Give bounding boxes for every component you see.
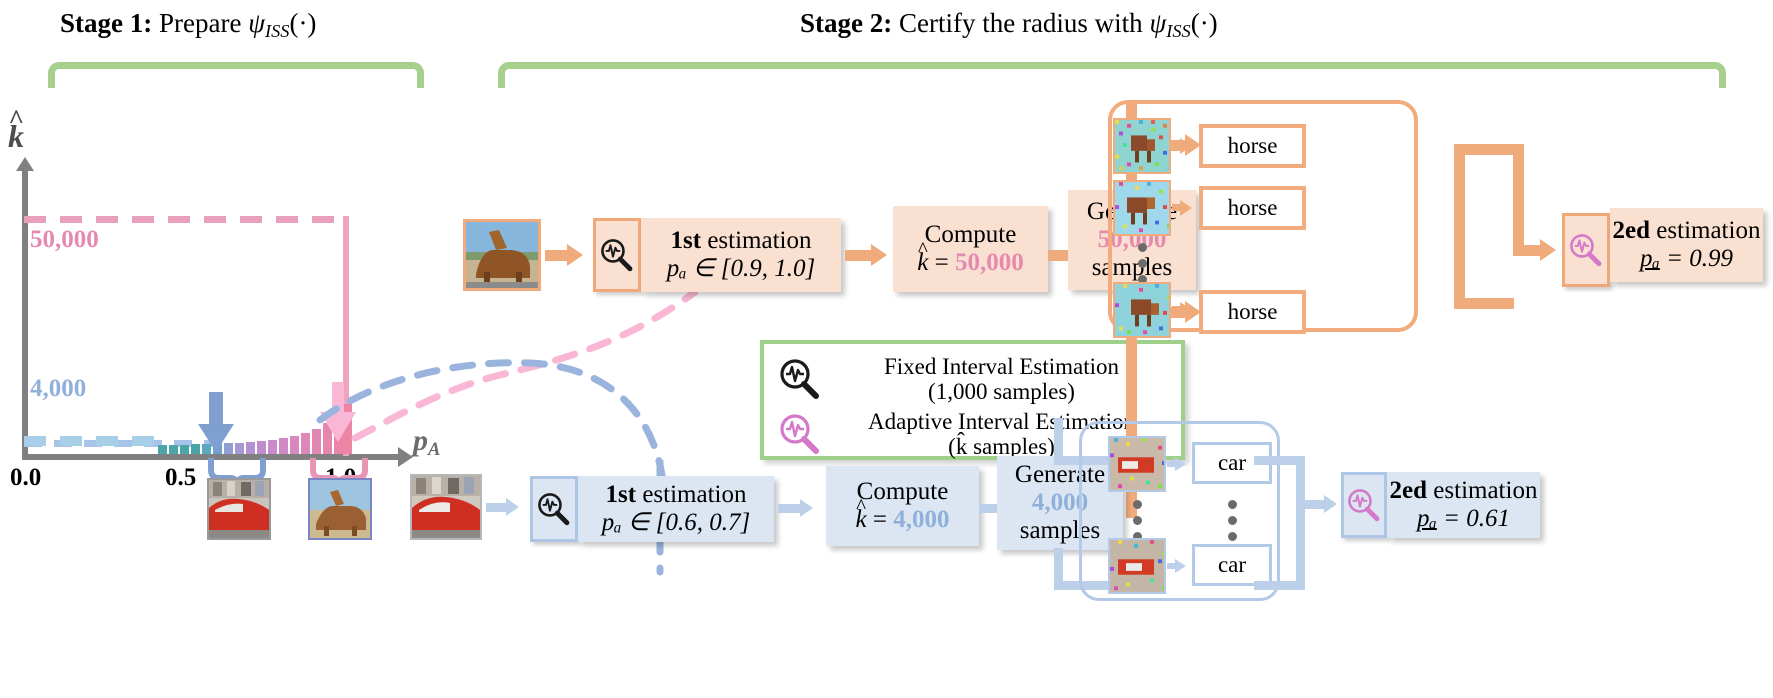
connector-orange-10 xyxy=(1454,144,1465,309)
label-box-bottom-2: car xyxy=(1192,544,1272,586)
stage2-text: Certify the radius with xyxy=(899,8,1143,38)
adaptive-estimator-icon-top[interactable] xyxy=(1562,213,1610,287)
psi-subscript: ISS xyxy=(1166,21,1190,41)
vertical-ellipsis-top-left xyxy=(1138,243,1147,284)
arrow-sample-bottom-2-icon xyxy=(1175,559,1186,573)
connector-blue-8 xyxy=(1296,456,1305,590)
noisy-sample-bottom-1 xyxy=(1108,436,1166,492)
first-estimation-formula: pₐ ∈ [0.9, 1.0] xyxy=(667,255,816,283)
connector-orange-12 xyxy=(1513,245,1543,256)
horse-thumbnail xyxy=(308,478,372,540)
psi-symbol: ψ xyxy=(1149,8,1166,38)
compute-value: ^k = 4,000 xyxy=(856,506,950,534)
psi-arg: (·) xyxy=(1191,8,1218,38)
arrow-orange-1-icon xyxy=(567,244,583,266)
compute-box-bottom[interactable]: Compute ^k = 4,000 xyxy=(826,466,979,546)
stage1-bracket xyxy=(48,62,424,88)
noisy-sample-top-3 xyxy=(1113,282,1171,338)
second-estimation-title: 2ed estimation xyxy=(1613,217,1761,245)
magnifier-black-icon xyxy=(778,358,822,400)
compute-value: ^kk̂ = = 50,000 xyxy=(917,249,1023,277)
label-box-top-3: horse xyxy=(1199,290,1306,334)
marker-arrow-blue xyxy=(196,392,236,454)
stage1-text: Prepare xyxy=(159,8,241,38)
marker-arrow-pink xyxy=(318,382,358,446)
y-tick-label-50000: 50,000 xyxy=(30,226,99,254)
arrow-sample-top-2-icon xyxy=(1180,200,1192,216)
stage2-title: Stage 2: Certify the radius with ψISS(·) xyxy=(800,8,1218,42)
histogram-left-bars xyxy=(24,436,164,446)
magnifier-pink-icon xyxy=(778,413,822,455)
arrow-blue-1-icon xyxy=(506,498,519,516)
connector-orange-2 xyxy=(845,250,873,261)
arrow-sample-top-3-icon xyxy=(1180,302,1192,318)
legend-row-fixed: Fixed Interval Estimation (1,000 samples… xyxy=(778,354,1167,405)
x-axis-arrow-icon xyxy=(398,447,413,467)
legend-fixed-text: Fixed Interval Estimation (1,000 samples… xyxy=(836,354,1167,405)
vertical-ellipsis-bottom-right xyxy=(1228,500,1237,541)
y-axis-line xyxy=(22,170,28,460)
x-tick-label-0.5: 0.5 xyxy=(165,466,191,490)
psi-symbol: ψ xyxy=(248,8,265,38)
noisy-sample-top-2 xyxy=(1113,180,1171,236)
psi-subscript: ISS xyxy=(265,21,289,41)
first-estimation-box-top[interactable]: 1st estimation pₐ ∈ [0.9, 1.0] xyxy=(641,218,841,292)
connector-orange-11 xyxy=(1454,298,1514,309)
connector-orange-8 xyxy=(1513,144,1524,254)
y-tick-label-4000: 4,000 xyxy=(30,375,86,403)
compute-box-top[interactable]: Compute ^kk̂ = = 50,000 xyxy=(893,206,1048,292)
label-box-top-1: horse xyxy=(1199,124,1306,168)
reference-line-50000 xyxy=(24,216,347,223)
arrow-sample-bottom-1-icon xyxy=(1175,457,1186,471)
arrow-blue-11-icon xyxy=(1324,495,1337,513)
compute-label: Compute xyxy=(925,221,1017,249)
stage1-title: Stage 1: Prepare ψISS(·) xyxy=(60,8,316,42)
y-axis-label: ^k xyxy=(8,118,24,155)
adaptive-estimator-icon-bottom[interactable] xyxy=(1341,472,1387,538)
first-estimation-formula: pₐ ∈ [0.6, 0.7] xyxy=(602,509,751,537)
second-estimation-box-top[interactable]: 2ed estimation pₐ = 0.99 xyxy=(1610,208,1763,282)
car-thumbnail xyxy=(207,478,271,540)
first-estimation-box-bottom[interactable]: 1st estimation pₐ ∈ [0.6, 0.7] xyxy=(578,476,774,542)
first-estimation-title: 1st estimation xyxy=(606,481,747,509)
fixed-estimator-icon-bottom[interactable] xyxy=(530,476,578,542)
compute-label: Compute xyxy=(857,478,949,506)
connector-blue-9 xyxy=(1254,456,1305,465)
second-estimation-value: pₐ = 0.61 xyxy=(1417,505,1510,533)
stage2-bracket xyxy=(498,62,1726,88)
second-estimation-value: pₐ = 0.99 xyxy=(1640,245,1733,273)
input-image-car xyxy=(410,474,482,540)
x-axis-label: pA xyxy=(413,424,440,461)
connector-sample-top-1 xyxy=(1172,142,1184,149)
arrow-orange-2-icon xyxy=(871,244,887,266)
connector-blue-1 xyxy=(486,503,508,512)
noisy-sample-top-1 xyxy=(1113,118,1171,174)
first-estimation-title: 1st estimation xyxy=(671,227,812,255)
stage2-label: Stage 2: xyxy=(800,8,892,38)
label-box-top-2: horse xyxy=(1199,186,1306,230)
fixed-estimator-icon-top[interactable] xyxy=(593,218,641,292)
x-tick-label-0: 0.0 xyxy=(10,466,36,490)
stage1-label: Stage 1: xyxy=(60,8,152,38)
connector-orange-1 xyxy=(545,250,569,261)
connector-blue-4 xyxy=(1054,418,1063,460)
second-estimation-title: 2ed estimation xyxy=(1390,477,1538,505)
input-image-horse xyxy=(463,219,541,291)
vertical-ellipsis-bottom-left xyxy=(1133,500,1142,541)
arrow-blue-2-icon xyxy=(800,499,813,517)
psi-arg: (·) xyxy=(289,8,316,38)
second-estimation-box-bottom[interactable]: 2ed estimation pₐ = 0.61 xyxy=(1387,472,1540,538)
connector-blue-10 xyxy=(1254,581,1305,590)
y-axis-arrow-icon xyxy=(16,157,34,171)
arrow-orange-12-icon xyxy=(1540,239,1556,261)
noisy-sample-bottom-2 xyxy=(1108,538,1166,594)
